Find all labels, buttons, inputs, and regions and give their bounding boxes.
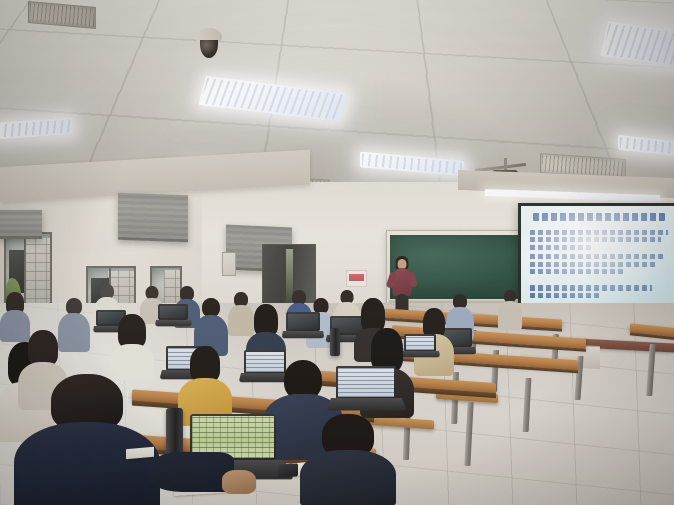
laptop-screen — [338, 368, 394, 397]
laptop-screen — [288, 314, 318, 329]
roller-blind-1[interactable] — [0, 210, 42, 239]
student — [498, 290, 522, 330]
student-torso — [14, 422, 160, 505]
roller-blind-2[interactable] — [118, 193, 188, 242]
student — [110, 314, 154, 380]
student-hair — [361, 298, 385, 332]
slide-glare — [521, 206, 674, 313]
laptop-lid — [286, 312, 320, 331]
student-hand — [222, 470, 256, 494]
laptop-lid — [336, 366, 396, 399]
student-torso — [300, 450, 396, 505]
laptop-lid — [158, 304, 188, 320]
wall-plaque — [222, 252, 236, 276]
laptop-mid-1[interactable] — [336, 366, 396, 410]
dome-security-camera — [196, 28, 222, 56]
classroom-photo — [0, 0, 674, 505]
laptop-row-3[interactable] — [286, 312, 320, 338]
water-bottle-2[interactable] — [330, 328, 340, 356]
laptop-keyboard[interactable] — [155, 320, 193, 326]
laptop-keyboard[interactable] — [327, 398, 407, 411]
smartphone-on-desk[interactable] — [278, 463, 298, 477]
wall-sign-red — [346, 270, 367, 287]
slide-surface — [521, 206, 674, 313]
student-hair — [118, 314, 146, 348]
projection-screen — [518, 203, 674, 316]
student-hair — [28, 330, 58, 366]
laptop-screen — [160, 306, 186, 318]
presenter — [390, 256, 414, 314]
student-foreground — [14, 374, 160, 505]
student — [300, 414, 396, 505]
student-hair — [190, 346, 220, 382]
laptop-keyboard[interactable] — [282, 331, 325, 338]
laptop-rear-2[interactable] — [158, 304, 188, 326]
camera-dome — [200, 40, 218, 57]
student-torso — [498, 301, 522, 330]
